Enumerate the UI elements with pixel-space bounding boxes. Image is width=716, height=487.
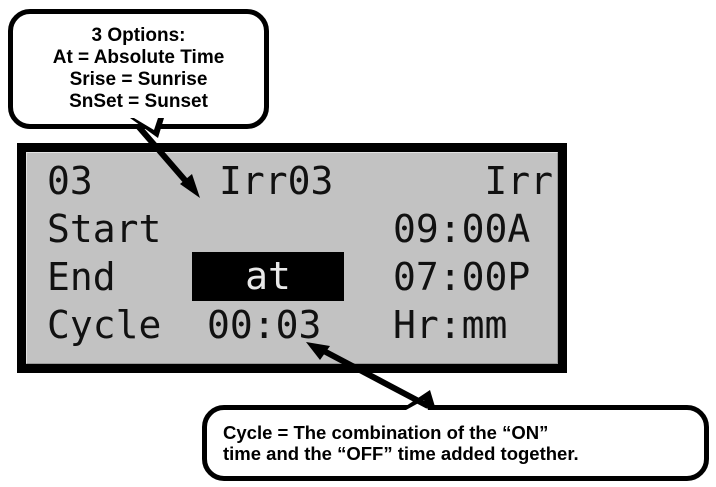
lcd-row-1-left: Start [47, 205, 161, 253]
callout-options-line-2: At = Absolute Time [53, 47, 225, 69]
lcd-row-1-mid: at [192, 252, 344, 301]
callout-options: 3 Options: At = Absolute Time Srise = Su… [8, 9, 269, 129]
lcd-row-2-right[interactable]: 07:00P [393, 253, 530, 301]
callout-cycle-line-1: Cycle = The combination of the “ON” [223, 422, 548, 443]
lcd-row-0-left: 03 [47, 157, 93, 205]
lcd-row-0-mid[interactable]: Irr03 [219, 157, 333, 205]
lcd-row: Start at 09:00A [27, 205, 557, 253]
controller-lcd-screen: 03 Irr03 Irr Start at 09:00A End at 07:0… [26, 152, 558, 364]
lcd-row-0-right: Irr [333, 157, 553, 205]
lcd-row-2-left: End [47, 253, 116, 301]
screenshot-canvas: 3 Options: At = Absolute Time Srise = Su… [0, 0, 716, 487]
lcd-row: 03 Irr03 Irr [27, 157, 557, 205]
arrow-options-to-field [130, 118, 220, 208]
controller-lcd-bezel: 03 Irr03 Irr Start at 09:00A End at 07:0… [17, 143, 567, 373]
callout-cycle: Cycle = The combination of the “ON” time… [202, 405, 709, 481]
callout-options-line-1: 3 Options: [92, 25, 186, 47]
callout-options-line-3: Srise = Sunrise [70, 69, 208, 91]
arrow-cycle-to-value [296, 334, 441, 414]
lcd-row-3-left: Cycle [47, 301, 161, 349]
callout-options-line-4: SnSet = Sunset [69, 91, 208, 113]
lcd-selected-field-start-mode[interactable]: at [192, 252, 344, 301]
callout-cycle-line-2: time and the “OFF” time added together. [223, 443, 579, 464]
lcd-row: Cycle 00:03 Hr:mm [27, 301, 557, 349]
lcd-row-1-right[interactable]: 09:00A [393, 205, 530, 253]
